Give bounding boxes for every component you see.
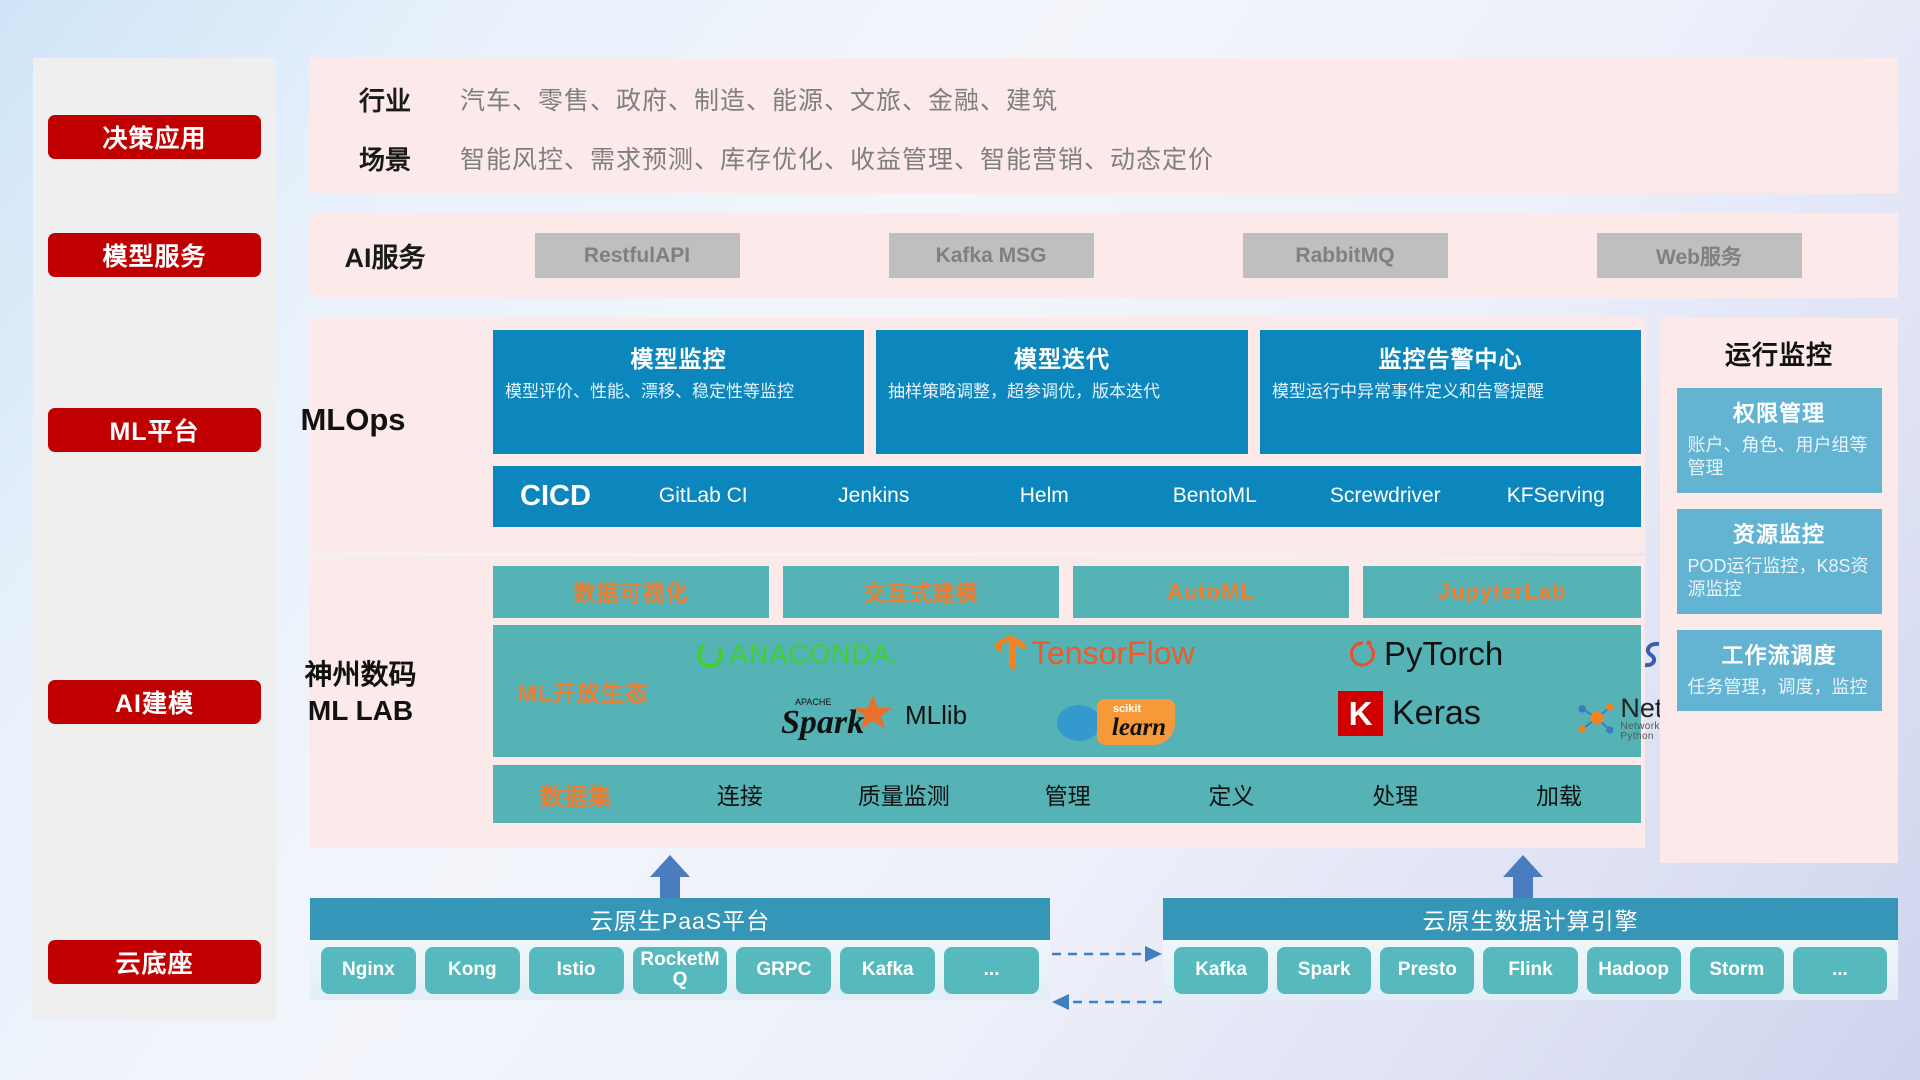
paas-pill-nginx[interactable]: Nginx — [321, 947, 416, 994]
paas-title: 云原生PaaS平台 — [310, 898, 1050, 940]
card-title: 工作流调度 — [1688, 638, 1871, 670]
svg-text:Spark: Spark — [781, 704, 864, 741]
ai-service-label: AI服务 — [310, 236, 460, 275]
card-title: 资源监控 — [1688, 517, 1871, 549]
mlops-label: MLOps — [278, 402, 428, 438]
pytorch-logo-text: PyTorch — [1384, 635, 1503, 673]
paas-pill-rocketmq[interactable]: RocketMQ — [633, 947, 728, 994]
card-desc: 账户、角色、用户组等管理 — [1688, 434, 1871, 481]
rail-tag-model-service[interactable]: 模型服务 — [48, 233, 261, 277]
monitor-card-workflow[interactable]: 工作流调度 任务管理，调度，监控 — [1677, 630, 1882, 711]
cicd-item-helm[interactable]: Helm — [959, 485, 1130, 507]
tool-chip-data-visualization[interactable]: 数据可视化 — [493, 566, 769, 618]
bidirectional-link-arrows-icon — [1050, 940, 1170, 1020]
card-desc: 抽样策略调整，超参调优，版本迭代 — [888, 381, 1236, 404]
service-chip-kafka-msg[interactable]: Kafka MSG — [889, 233, 1094, 278]
compute-items: Kafka Spark Presto Flink Hadoop Storm ..… — [1163, 940, 1898, 1000]
architecture-diagram: 决策应用 模型服务 ML平台 AI建模 云底座 行业 汽车、零售、政府、制造、能… — [0, 0, 1920, 1080]
compute-pill-flink[interactable]: Flink — [1483, 947, 1577, 994]
keras-mark-icon: K — [1338, 691, 1383, 736]
up-arrow-paas-icon — [640, 855, 700, 900]
monitor-card-resource[interactable]: 资源监控 POD运行监控，K8S资源监控 — [1677, 509, 1882, 614]
ml-lab-label-line1: 神州数码 — [278, 657, 443, 693]
dataset-item-connect[interactable]: 连接 — [658, 777, 822, 811]
cicd-item-gitlab-ci[interactable]: GitLab CI — [618, 485, 789, 507]
tool-chip-automl[interactable]: AutoML — [1073, 566, 1349, 618]
dataset-item-define[interactable]: 定义 — [1149, 777, 1313, 811]
spark-mllib-logo: Spark APACHE MLlib — [781, 689, 967, 741]
card-desc: 模型运行中异常事件定义和告警提醒 — [1272, 381, 1629, 404]
paas-pill-istio[interactable]: Istio — [529, 947, 624, 994]
paas-items: Nginx Kong Istio RocketMQ GRPC Kafka ... — [310, 940, 1050, 1000]
industry-label: 行业 — [310, 81, 460, 118]
dataset-item-load[interactable]: 加载 — [1477, 777, 1641, 811]
scenario-row: 场景 智能风控、需求预测、库存优化、收益管理、智能营销、动态定价 — [310, 130, 1898, 186]
decision-app-band: 行业 汽车、零售、政府、制造、能源、文旅、金融、建筑 场景 智能风控、需求预测、… — [310, 58, 1898, 193]
cicd-item-screwdriver[interactable]: Screwdriver — [1300, 485, 1471, 507]
pytorch-logo: PyTorch — [1348, 635, 1503, 673]
service-chip-web-service[interactable]: Web服务 — [1597, 233, 1802, 278]
rail-tag-ml-platform[interactable]: ML平台 — [48, 408, 261, 452]
ml-ecosystem-row: ML开放生态 ANACONDA . TensorFlow — [493, 625, 1641, 757]
dataset-item-quality[interactable]: 质量监测 — [822, 777, 986, 811]
paas-pill-kong[interactable]: Kong — [425, 947, 520, 994]
svg-text:learn: learn — [1112, 714, 1166, 741]
compute-pill-presto[interactable]: Presto — [1380, 947, 1474, 994]
mlops-card-model-iteration[interactable]: 模型迭代 抽样策略调整，超参调优，版本迭代 — [876, 330, 1248, 454]
industry-row: 行业 汽车、零售、政府、制造、能源、文旅、金融、建筑 — [310, 68, 1898, 130]
compute-pill-storm[interactable]: Storm — [1690, 947, 1784, 994]
compute-title: 云原生数据计算引擎 — [1163, 898, 1898, 940]
ml-ecosystem-label: ML开放生态 — [493, 674, 673, 708]
compute-pill-spark[interactable]: Spark — [1277, 947, 1371, 994]
ml-lab-label: 神州数码 ML LAB — [278, 657, 443, 730]
cicd-label: CICD — [493, 480, 618, 513]
tensorflow-logo: TensorFlow — [993, 633, 1195, 673]
card-desc: POD运行监控，K8S资源监控 — [1688, 555, 1871, 602]
paas-stack: 云原生PaaS平台 Nginx Kong Istio RocketMQ GRPC… — [310, 898, 1050, 1000]
service-chip-restfulapi[interactable]: RestfulAPI — [535, 233, 740, 278]
anaconda-logo-text: ANACONDA — [730, 639, 891, 670]
dataset-row: 数据集 连接 质量监测 管理 定义 处理 加载 — [493, 765, 1641, 823]
keras-logo: K Keras — [1338, 691, 1481, 736]
mlops-card-alert-center[interactable]: 监控告警中心 模型运行中异常事件定义和告警提醒 — [1260, 330, 1641, 454]
scenario-values: 智能风控、需求预测、库存优化、收益管理、智能营销、动态定价 — [460, 140, 1214, 176]
card-desc: 模型评价、性能、漂移、稳定性等监控 — [505, 381, 852, 404]
ml-lab-label-line2: ML LAB — [278, 693, 443, 729]
service-chip-rabbitmq[interactable]: RabbitMQ — [1243, 233, 1448, 278]
compute-pill-hadoop[interactable]: Hadoop — [1587, 947, 1681, 994]
paas-pill-grpc[interactable]: GRPC — [736, 947, 831, 994]
card-title: 模型监控 — [505, 340, 852, 374]
tool-chip-jupyterlab[interactable]: JupyterLab — [1363, 566, 1641, 618]
paas-pill-kafka[interactable]: Kafka — [840, 947, 935, 994]
up-arrow-compute-icon — [1493, 855, 1553, 900]
runtime-monitor-title: 运行监控 — [1660, 318, 1898, 372]
card-title: 模型迭代 — [888, 340, 1236, 374]
keras-logo-text: Keras — [1392, 694, 1481, 733]
dataset-item-process[interactable]: 处理 — [1313, 777, 1477, 811]
scikit-learn-logo: scikit learn — [1053, 693, 1203, 745]
rail-tag-ai-modeling[interactable]: AI建模 — [48, 680, 261, 724]
cicd-item-jenkins[interactable]: Jenkins — [789, 485, 960, 507]
tensorflow-logo-text: TensorFlow — [1031, 635, 1195, 672]
dataset-item-manage[interactable]: 管理 — [986, 777, 1150, 811]
compute-stack: 云原生数据计算引擎 Kafka Spark Presto Flink Hadoo… — [1163, 898, 1898, 1000]
compute-pill-more[interactable]: ... — [1793, 947, 1887, 994]
left-rail — [33, 58, 276, 1020]
ml-ecosystem-logos: ANACONDA . TensorFlow PyTorch — [673, 625, 1641, 757]
cicd-row: CICD GitLab CI Jenkins Helm BentoML Scre… — [493, 466, 1641, 527]
scenario-label: 场景 — [310, 140, 460, 177]
industry-values: 汽车、零售、政府、制造、能源、文旅、金融、建筑 — [460, 81, 1058, 117]
compute-pill-kafka[interactable]: Kafka — [1174, 947, 1268, 994]
ai-service-band: AI服务 RestfulAPI Kafka MSG RabbitMQ Web服务 — [310, 213, 1898, 298]
rail-tag-cloud-base[interactable]: 云底座 — [48, 940, 261, 984]
svg-text:APACHE: APACHE — [795, 697, 831, 707]
cicd-item-kfserving[interactable]: KFServing — [1471, 485, 1642, 507]
monitor-card-permission[interactable]: 权限管理 账户、角色、用户组等管理 — [1677, 388, 1882, 493]
paas-pill-more[interactable]: ... — [944, 947, 1039, 994]
card-title: 权限管理 — [1688, 396, 1871, 428]
card-title: 监控告警中心 — [1272, 340, 1629, 374]
rail-tag-decision-app[interactable]: 决策应用 — [48, 115, 261, 159]
runtime-monitor-column: 运行监控 权限管理 账户、角色、用户组等管理 资源监控 POD运行监控，K8S资… — [1660, 318, 1898, 863]
mlops-card-model-monitoring[interactable]: 模型监控 模型评价、性能、漂移、稳定性等监控 — [493, 330, 864, 454]
tool-chip-interactive-modeling[interactable]: 交互式建模 — [783, 566, 1059, 618]
card-desc: 任务管理，调度，监控 — [1688, 676, 1871, 699]
mllib-logo-text: MLlib — [905, 700, 967, 731]
cicd-item-bentoml[interactable]: BentoML — [1130, 485, 1301, 507]
dataset-label: 数据集 — [493, 777, 658, 812]
anaconda-logo: ANACONDA . — [695, 639, 899, 670]
